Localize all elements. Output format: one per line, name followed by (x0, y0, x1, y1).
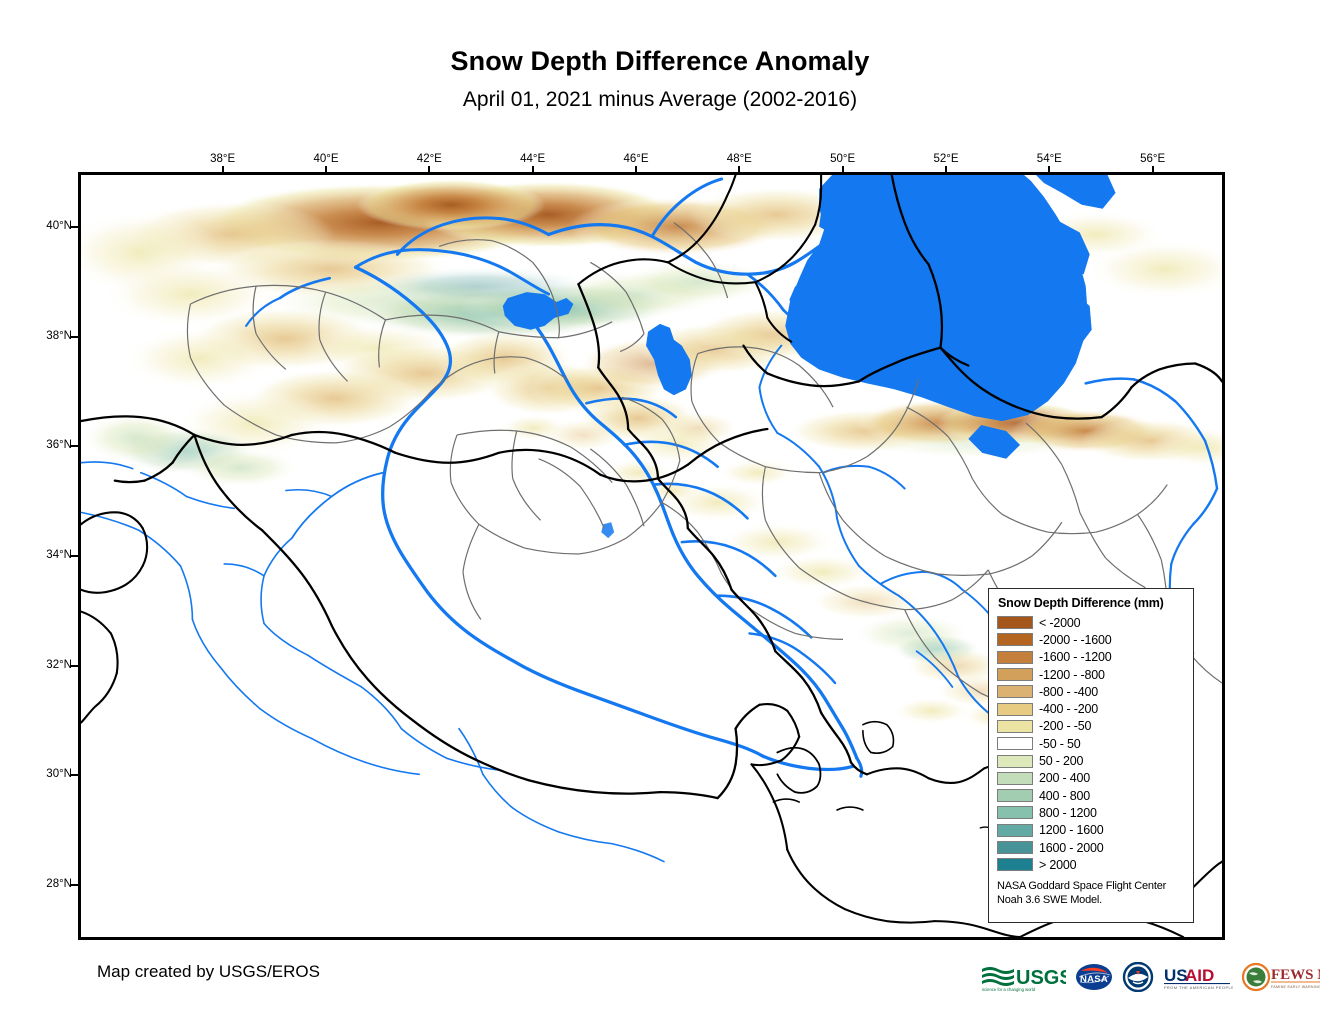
legend-label: 800 - 1200 (1039, 806, 1097, 820)
legend-label: 1200 - 1600 (1039, 823, 1104, 837)
legend-color-swatch (997, 841, 1033, 854)
legend-source-line-2: Noah 3.6 SWE Model. (997, 894, 1185, 908)
map-page: Snow Depth Difference Anomaly April 01, … (0, 0, 1320, 1020)
page-title: Snow Depth Difference Anomaly (0, 46, 1320, 77)
latitude-label: 36°N (12, 439, 72, 451)
legend-color-swatch (997, 633, 1033, 646)
legend-source: NASA Goddard Space Flight Center Noah 3.… (997, 880, 1185, 907)
legend-row: -1200 - -800 (997, 666, 1185, 683)
legend-color-swatch (997, 806, 1033, 819)
svg-text:NASA: NASA (1080, 974, 1108, 985)
legend-label: -2000 - -1600 (1039, 633, 1111, 647)
svg-text:science for a changing world: science for a changing world (982, 987, 1036, 992)
legend-row: 1200 - 1600 (997, 822, 1185, 839)
legend-color-swatch (997, 789, 1033, 802)
legend-entries: < -2000-2000 - -1600-1600 - -1200-1200 -… (997, 614, 1185, 873)
legend-label: 200 - 400 (1039, 771, 1090, 785)
legend-row: -200 - -50 (997, 718, 1185, 735)
legend-row: -2000 - -1600 (997, 631, 1185, 648)
latitude-label: 38°N (12, 330, 72, 342)
latitude-label: 32°N (12, 659, 72, 671)
legend-title: Snow Depth Difference (mm) (998, 596, 1185, 610)
legend-color-swatch (997, 772, 1033, 785)
svg-text:FEWS NET: FEWS NET (1271, 967, 1320, 983)
longitude-label: 38°E (193, 153, 253, 165)
longitude-label: 54°E (1019, 153, 1079, 165)
svg-text:USGS: USGS (1016, 967, 1066, 989)
legend-row: -400 - -200 (997, 700, 1185, 717)
svg-text:FROM THE AMERICAN PEOPLE: FROM THE AMERICAN PEOPLE (1164, 985, 1233, 990)
legend-label: 50 - 200 (1039, 754, 1083, 768)
legend-color-swatch (997, 755, 1033, 768)
noaa-logo (1122, 960, 1154, 994)
latitude-label: 40°N (12, 220, 72, 232)
legend-color-swatch (997, 824, 1033, 837)
legend-label: < -2000 (1039, 616, 1080, 630)
svg-text:FAMINE EARLY WARNING SYSTEMS N: FAMINE EARLY WARNING SYSTEMS NETWORK (1271, 985, 1320, 989)
legend-row: -1600 - -1200 (997, 649, 1185, 666)
legend-row: 800 - 1200 (997, 804, 1185, 821)
legend-color-swatch (997, 616, 1033, 629)
legend-row: 400 - 800 (997, 787, 1185, 804)
fewsnet-logo: FEWS NET FAMINE EARLY WARNING SYSTEMS NE… (1242, 960, 1320, 994)
page-subtitle: April 01, 2021 minus Average (2002-2016) (0, 88, 1320, 112)
legend-source-line-1: NASA Goddard Space Flight Center (997, 880, 1185, 894)
legend-label: -400 - -200 (1039, 702, 1098, 716)
longitude-label: 44°E (503, 153, 563, 165)
map-credit: Map created by USGS/EROS (97, 962, 320, 982)
latitude-label: 28°N (12, 878, 72, 890)
legend-label: -1200 - -800 (1039, 668, 1105, 682)
legend-label: -50 - 50 (1039, 737, 1080, 751)
latitude-label: 30°N (12, 768, 72, 780)
longitude-label: 42°E (399, 153, 459, 165)
legend-label: > 2000 (1039, 858, 1076, 872)
longitude-label: 40°E (296, 153, 356, 165)
legend-row: < -2000 (997, 614, 1185, 631)
longitude-label: 52°E (916, 153, 976, 165)
legend-row: > 2000 (997, 856, 1185, 873)
usgs-logo: USGS science for a changing world (980, 960, 1066, 994)
legend-row: 50 - 200 (997, 752, 1185, 769)
longitude-label: 46°E (606, 153, 666, 165)
svg-text:AID: AID (1185, 966, 1214, 985)
legend-color-swatch (997, 858, 1033, 871)
legend-label: 400 - 800 (1039, 789, 1090, 803)
legend-color-swatch (997, 668, 1033, 681)
legend-label: 1600 - 2000 (1039, 841, 1104, 855)
legend-color-swatch (997, 685, 1033, 698)
longitude-label: 50°E (813, 153, 873, 165)
nasa-logo: NASA (1075, 960, 1113, 994)
legend-row: 1600 - 2000 (997, 839, 1185, 856)
legend-color-swatch (997, 720, 1033, 733)
usaid-logo: US AID FROM THE AMERICAN PEOPLE (1163, 960, 1233, 994)
legend-color-swatch (997, 651, 1033, 664)
legend-label: -800 - -400 (1039, 685, 1098, 699)
legend-color-swatch (997, 737, 1033, 750)
agency-logos: USGS science for a changing world NASA (980, 958, 1320, 996)
legend-row: 200 - 400 (997, 770, 1185, 787)
legend-row: -50 - 50 (997, 735, 1185, 752)
legend-label: -200 - -50 (1039, 719, 1091, 733)
legend-color-swatch (997, 703, 1033, 716)
legend-row: -800 - -400 (997, 683, 1185, 700)
legend-label: -1600 - -1200 (1039, 650, 1111, 664)
longitude-label: 56°E (1123, 153, 1183, 165)
latitude-label: 34°N (12, 549, 72, 561)
longitude-label: 48°E (709, 153, 769, 165)
map-legend: Snow Depth Difference (mm) < -2000-2000 … (988, 588, 1194, 923)
